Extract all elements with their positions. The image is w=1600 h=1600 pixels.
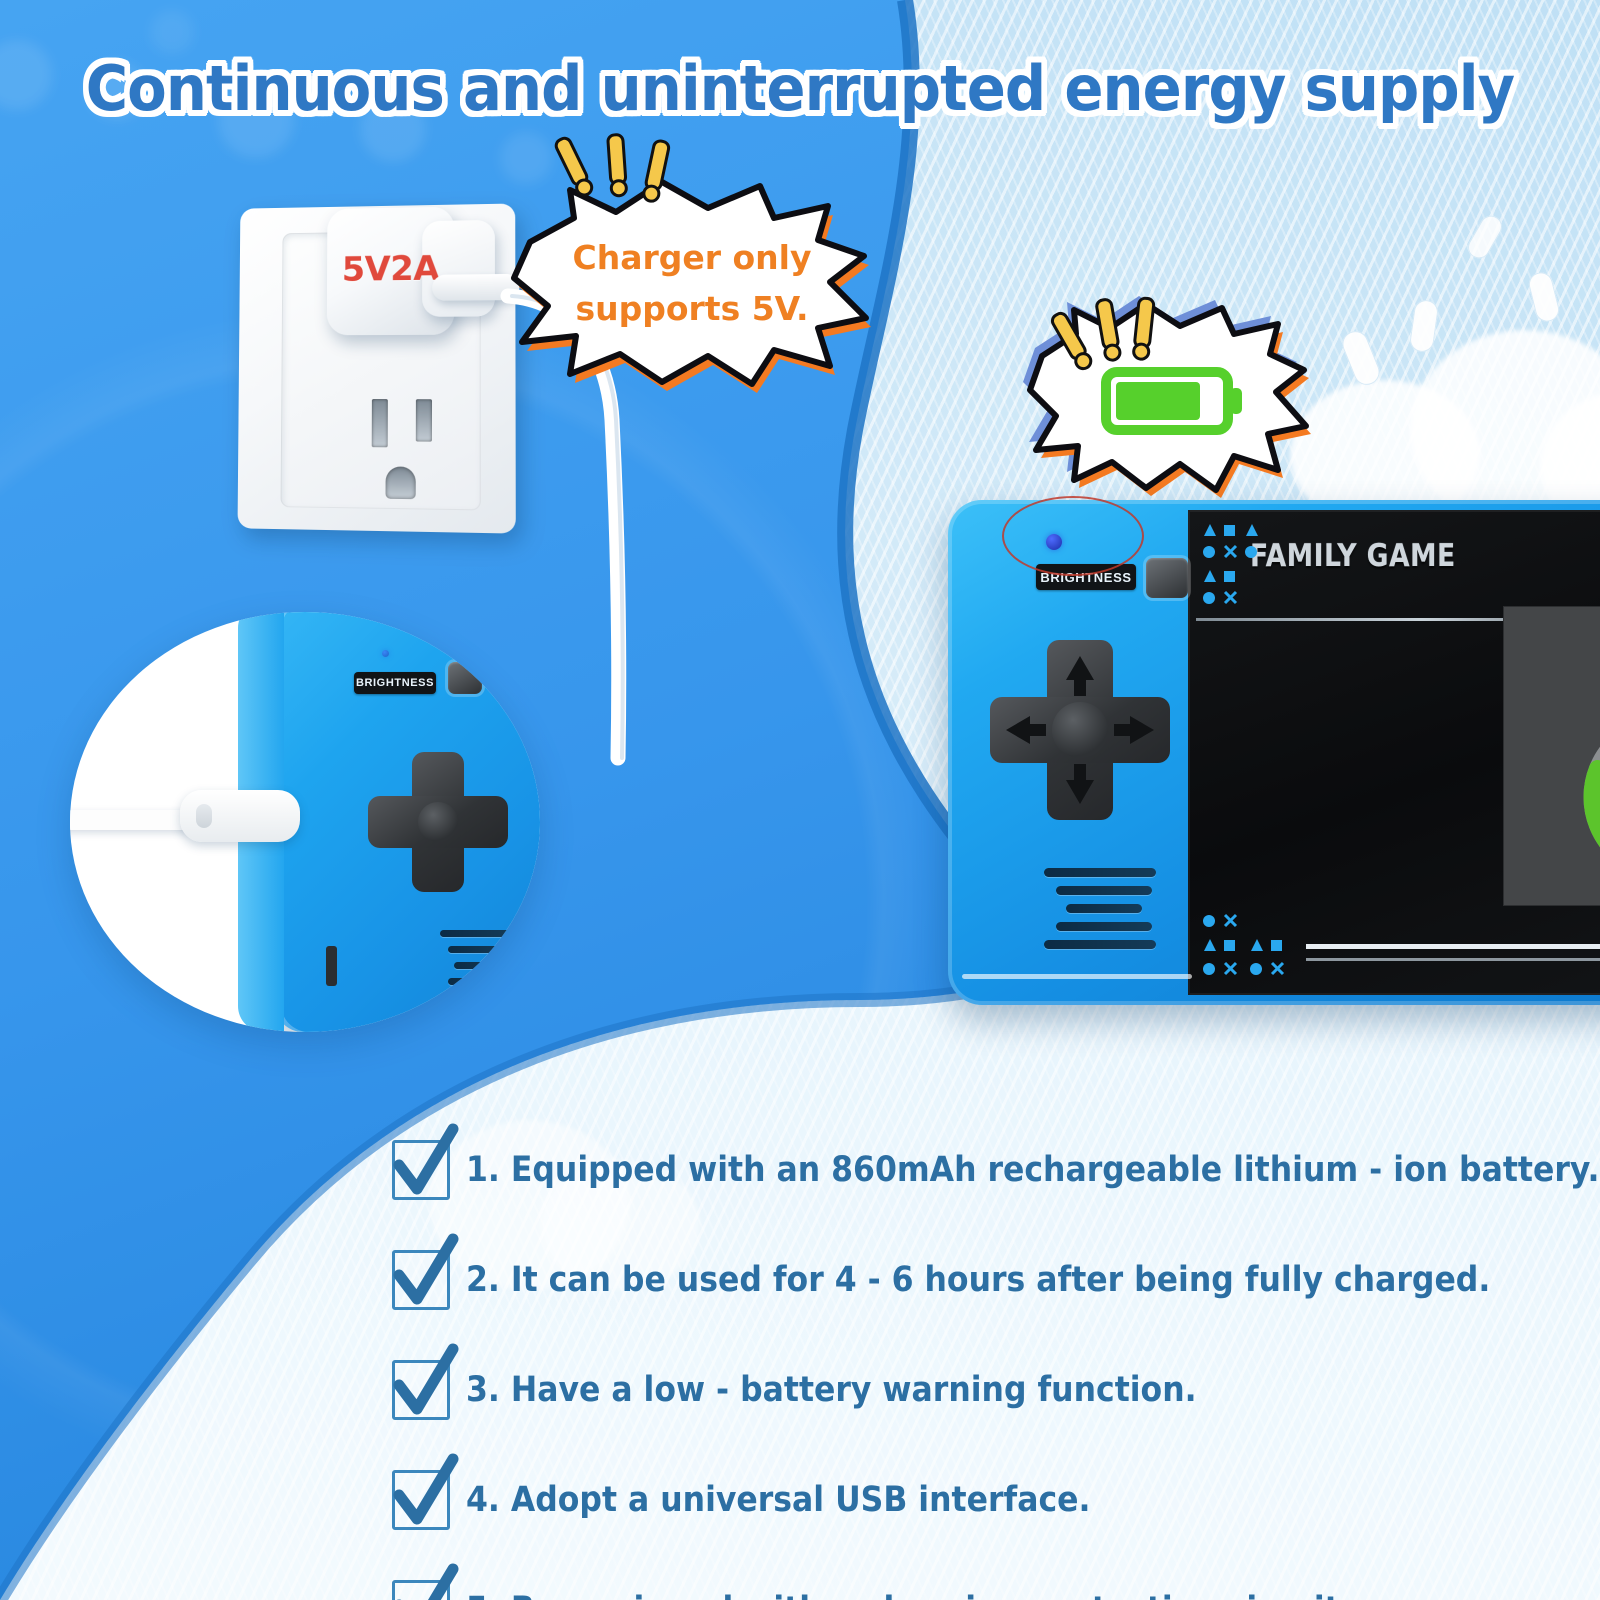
page-title: Continuous and uninterrupted energy supp… (56, 52, 1544, 125)
brightness-label: BRIGHTNESS (354, 672, 436, 694)
checklist-item: 2. It can be used for 4 - 6 hours after … (392, 1250, 1592, 1310)
bokeh-circle (500, 132, 552, 184)
charge-status-label: 75% Charged (1503, 862, 1600, 884)
speaker-grille (440, 930, 510, 1010)
console-bezel: FAMILY GAME (1188, 510, 1600, 995)
usb-port-slot (326, 946, 337, 986)
checklist-text: 1. Equipped with an 860mAh rechargeable … (466, 1150, 1599, 1190)
console-trim-line (962, 974, 1192, 979)
dpad[interactable] (368, 752, 508, 892)
checklist-item: 5. Be equipped with a charging protectio… (392, 1580, 1592, 1600)
brightness-button[interactable] (448, 662, 482, 694)
feature-checklist: 1. Equipped with an 860mAh rechargeable … (392, 1140, 1592, 1600)
dpad[interactable] (990, 640, 1170, 820)
outlet-slot-left (372, 399, 388, 447)
checkbox-icon[interactable] (392, 1470, 450, 1530)
checklist-item: 3. Have a low - battery warning function… (392, 1360, 1592, 1420)
charger-warning-bubble: Charger only supports 5V. (512, 178, 872, 388)
outlet-ground-slot (386, 466, 416, 499)
button-symbols-icon-bottom (1198, 909, 1298, 985)
checklist-text: 3. Have a low - battery warning function… (466, 1370, 1197, 1410)
usb-connector-detail (196, 804, 212, 828)
magnifier-content: BRIGHTNESS (70, 612, 540, 1032)
led-indicator (382, 650, 389, 657)
dpad-up-arrow (1066, 656, 1094, 696)
checkbox-icon[interactable] (392, 1580, 450, 1600)
dpad-down-arrow (1066, 764, 1094, 804)
checkbox-icon[interactable] (392, 1360, 450, 1420)
console-screen: 75% Charged (1503, 606, 1600, 906)
console-brand-label: FAMILY GAME (1250, 538, 1456, 574)
bokeh-circle (150, 10, 194, 54)
outlet-slot-right (416, 399, 432, 441)
handheld-console: FAMILY GAME (948, 500, 1600, 1005)
led-highlight-circle (1002, 496, 1144, 576)
wall-outlet-icon: 5V2A (238, 203, 516, 533)
checkbox-icon[interactable] (392, 1140, 450, 1200)
button-symbols-icon (1198, 524, 1264, 610)
charger-adapter: 5V2A (327, 207, 455, 336)
checklist-text: 5. Be equipped with a charging protectio… (466, 1590, 1352, 1600)
dpad-arrows-icon (990, 640, 1170, 820)
checklist-text: 4. Adopt a universal USB interface. (466, 1480, 1090, 1520)
usb-port-magnifier: BRIGHTNESS (70, 612, 540, 1032)
dpad-right-arrow (1114, 716, 1154, 744)
checkbox-icon[interactable] (392, 1250, 450, 1310)
dpad-left-arrow (1006, 716, 1046, 744)
infographic-page: Continuous and uninterrupted energy supp… (0, 0, 1600, 1600)
brightness-button[interactable] (1146, 558, 1188, 598)
checklist-text: 2. It can be used for 4 - 6 hours after … (466, 1260, 1490, 1300)
speaker-grille (1044, 868, 1156, 958)
checklist-item: 4. Adopt a universal USB interface. (392, 1470, 1592, 1530)
checklist-item: 1. Equipped with an 860mAh rechargeable … (392, 1140, 1592, 1200)
